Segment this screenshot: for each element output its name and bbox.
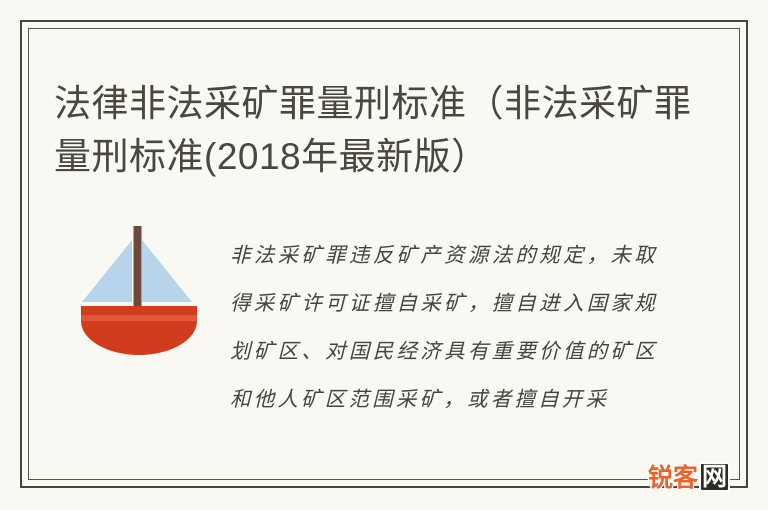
watermark-boxed-text: 网 [699, 462, 730, 492]
article-page: 法律非法采矿罪量刑标准（非法采矿罪量刑标准(2018年最新版） 非法采矿罪违反矿… [0, 0, 768, 510]
sailboat-illustration [64, 210, 214, 360]
watermark-primary-text: 锐客 [648, 465, 698, 490]
article-body: 非法采矿罪违反矿产资源法的规定，未取得采矿许可证擅自采矿，擅自进入国家规划矿区、… [230, 231, 658, 423]
site-watermark: 锐客网 [648, 462, 730, 492]
page-title: 法律非法采矿罪量刑标准（非法采矿罪量刑标准(2018年最新版） [54, 77, 694, 183]
article-content: 非法采矿罪违反矿产资源法的规定，未取得采矿许可证擅自采矿，擅自进入国家规划矿区、… [54, 198, 704, 468]
sailboat-icon [64, 210, 214, 360]
